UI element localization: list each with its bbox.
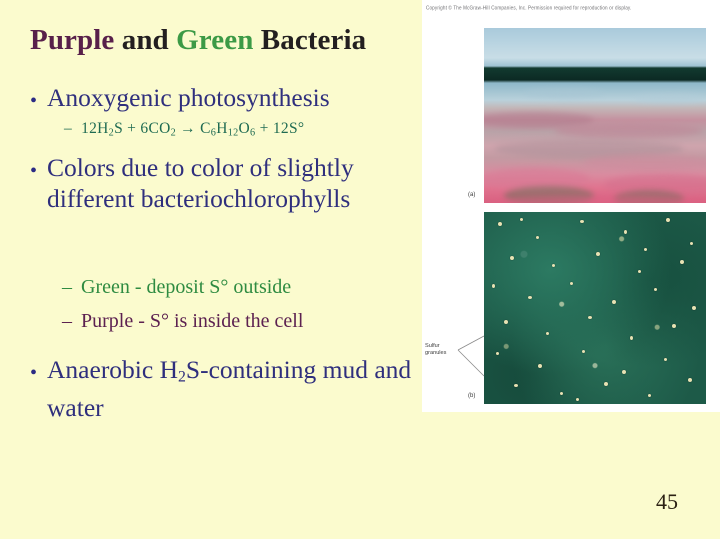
dash-marker-icon: – bbox=[64, 120, 72, 138]
bullet-label-anaerobic: Anaerobic H2S-containing mud and water bbox=[47, 354, 420, 423]
slide-text-column: Purple and Green Bacteria • Anoxygenic p… bbox=[0, 0, 425, 539]
figure-label-a: (a) bbox=[468, 192, 475, 198]
callout-leader-lines-icon bbox=[458, 336, 492, 384]
bullet-label-colors: Colors due to color of slightly differen… bbox=[47, 152, 410, 214]
page-number: 45 bbox=[656, 489, 678, 515]
dash-marker-icon: – bbox=[62, 276, 72, 299]
figure-panel: Copyright © The McGraw-Hill Companies, I… bbox=[422, 0, 720, 412]
sub-bullet-green: – Green - deposit S° outside bbox=[62, 276, 291, 299]
figure-label-b: (b) bbox=[468, 393, 475, 399]
sub-bullet-purple: – Purple - S° is inside the cell bbox=[62, 310, 303, 333]
bullet-item-anaerobic: • Anaerobic H2S-containing mud and water bbox=[30, 354, 420, 423]
dash-marker-icon: – bbox=[62, 310, 72, 333]
sub-bullet-label-purple: Purple - S° is inside the cell bbox=[81, 310, 303, 333]
title-part-and: and bbox=[114, 24, 176, 56]
title-part-bacteria: Bacteria bbox=[253, 24, 366, 56]
sub-bullet-equation: – 12H2S + 6CO2 → C6H12O6 + 12S° bbox=[64, 120, 304, 139]
bullet-dot-icon: • bbox=[30, 363, 37, 383]
title-part-green: Green bbox=[176, 24, 253, 56]
photo-lake-purple-bloom bbox=[484, 28, 706, 203]
sub-bullet-label-green: Green - deposit S° outside bbox=[81, 276, 291, 299]
bullet-label-anoxygenic: Anoxygenic photosynthesis bbox=[47, 82, 330, 113]
bullet-item-anoxygenic: • Anoxygenic photosynthesis bbox=[30, 82, 430, 113]
equation-text: 12H2S + 6CO2 → C6H12O6 + 12S° bbox=[81, 120, 304, 139]
title-part-purple: Purple bbox=[30, 24, 114, 56]
copyright-notice: Copyright © The McGraw-Hill Companies, I… bbox=[426, 5, 718, 11]
page-title: Purple and Green Bacteria bbox=[30, 24, 366, 57]
bullet-item-colors: • Colors due to color of slightly differ… bbox=[30, 152, 410, 214]
photo-green-sulfur-micrograph bbox=[484, 212, 706, 404]
bullet-dot-icon: • bbox=[30, 161, 37, 181]
bullet-dot-icon: • bbox=[30, 91, 37, 111]
slide-canvas: Purple and Green Bacteria • Anoxygenic p… bbox=[0, 0, 720, 539]
